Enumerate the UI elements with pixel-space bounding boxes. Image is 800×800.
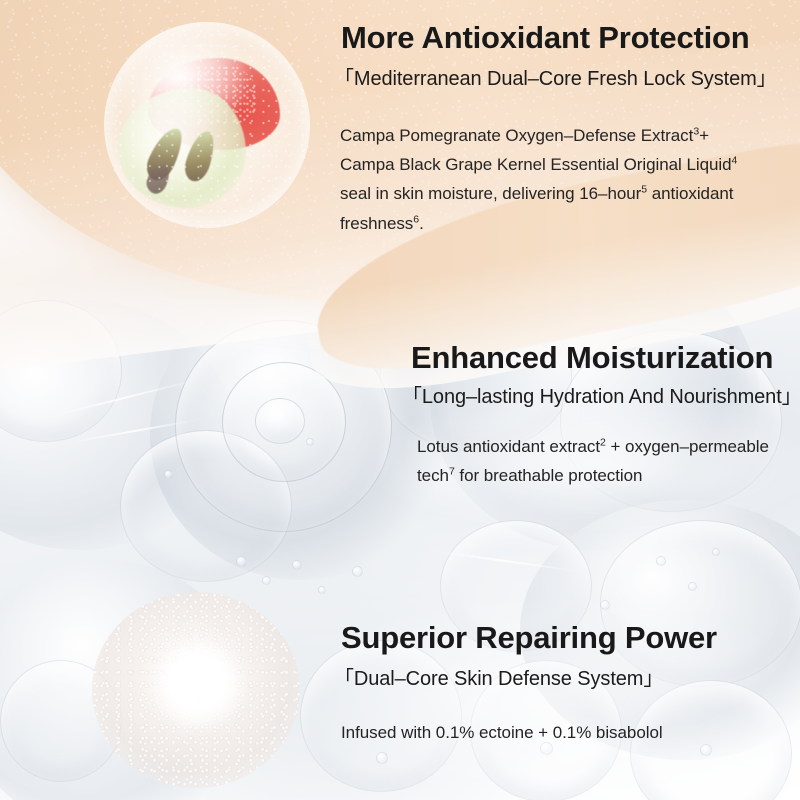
- bubble: [306, 438, 314, 446]
- section-repairing-title: Superior Repairing Power: [341, 620, 717, 657]
- section-antioxidant-body: Campa Pomegranate Oxygen–Defense Extract…: [340, 121, 740, 238]
- product-feature-poster: More Antioxidant Protection 「Mediterrane…: [0, 0, 800, 800]
- bubble: [262, 576, 271, 585]
- bubble: [656, 556, 666, 566]
- pearl-center-glow: [150, 640, 246, 728]
- bubble: [164, 470, 173, 479]
- section-repairing-subtitle: 「Dual–Core Skin Defense System」: [334, 667, 663, 691]
- bubble: [352, 566, 363, 577]
- bubble: [688, 582, 697, 591]
- fruit-glass-sheen: [104, 22, 310, 228]
- main-gel-droplet-core: [255, 398, 305, 444]
- section-repairing-body: Infused with 0.1% ectoine + 0.1% bisabol…: [341, 718, 761, 747]
- section-antioxidant-subtitle: 「Mediterranean Dual–Core Fresh Lock Syst…: [334, 67, 777, 91]
- bubble: [712, 548, 720, 556]
- fruit-ingredient-vignette: [104, 22, 310, 228]
- section-moisturization-body: Lotus antioxidant extract2 + oxygen–perm…: [417, 432, 787, 490]
- section-antioxidant-title: More Antioxidant Protection: [341, 20, 750, 57]
- section-moisturization-subtitle: 「Long–lasting Hydration And Nourishment」: [402, 385, 800, 409]
- bubble: [318, 586, 326, 594]
- bubble: [292, 560, 302, 570]
- section-moisturization-title: Enhanced Moisturization: [411, 340, 773, 377]
- bubble: [236, 556, 247, 567]
